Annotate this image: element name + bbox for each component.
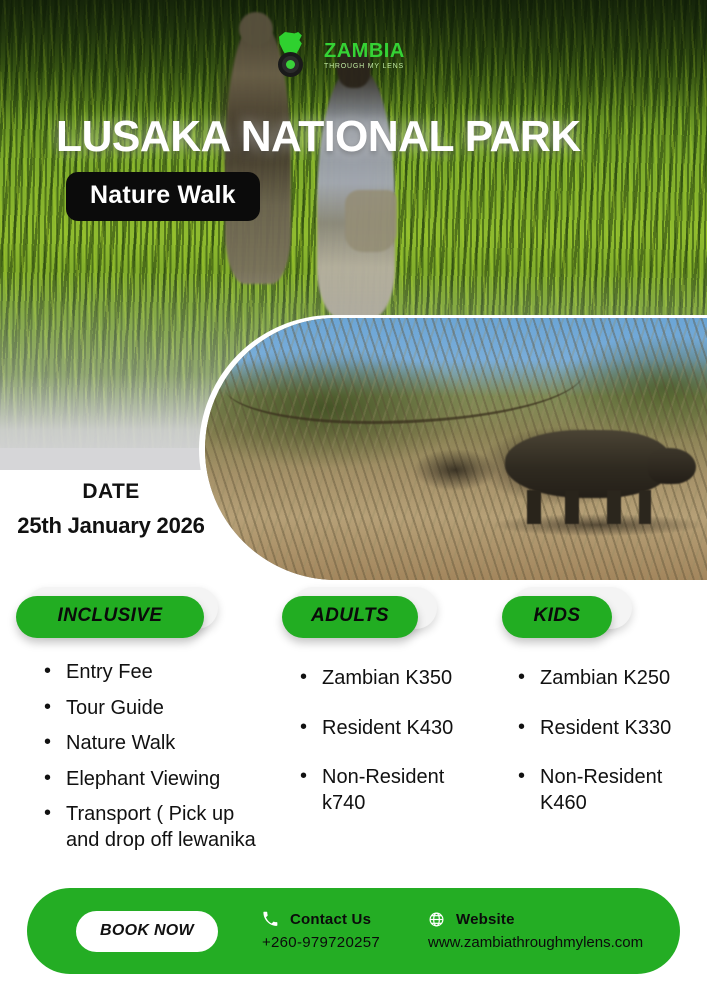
globe-icon: [428, 911, 445, 928]
rhino-photo: [205, 318, 707, 580]
footer-bar: BOOK NOW Contact Us +260-979720257: [27, 888, 680, 974]
website-title: Website: [456, 911, 515, 928]
contact-phone-number[interactable]: +260-979720257: [262, 934, 380, 951]
list-inclusive: Entry Fee Tour Guide Nature Walk Elephan…: [66, 660, 270, 854]
contact-heading: Contact Us: [262, 911, 380, 928]
rhino-legs: [521, 490, 651, 524]
website-heading: Website: [428, 911, 643, 928]
column-kids: KIDS Zambian K250 Resident K330 Non-Resi…: [482, 596, 707, 876]
badge-wrap-kids: KIDS: [502, 596, 612, 638]
subtitle-pill: Nature Walk: [66, 172, 260, 221]
page-title: LUSAKA NATIONAL PARK: [56, 112, 581, 162]
list-item: Resident K430: [322, 716, 482, 742]
website-block: Website www.zambiathroughmylens.com: [428, 911, 643, 951]
list-item: Transport ( Pick up and drop off lewanik…: [66, 802, 270, 853]
date-label: DATE: [0, 480, 222, 504]
list-item: Entry Fee: [66, 660, 270, 686]
column-inclusive: INCLUSIVE Entry Fee Tour Guide Nature Wa…: [0, 596, 270, 876]
book-now-button[interactable]: BOOK NOW: [76, 911, 218, 952]
camera-lens-icon: [278, 52, 303, 77]
column-adults: ADULTS Zambian K350 Resident K430 Non-Re…: [270, 596, 482, 876]
date-value: 25th January 2026: [0, 513, 222, 539]
list-item: Resident K330: [540, 716, 707, 742]
logo-mark: [272, 32, 320, 78]
list-item: Elephant Viewing: [66, 767, 270, 793]
info-columns: INCLUSIVE Entry Fee Tour Guide Nature Wa…: [0, 596, 707, 876]
list-item: Tour Guide: [66, 696, 270, 722]
website-url[interactable]: www.zambiathroughmylens.com: [428, 934, 643, 951]
logo-tagline: THROUGH MY LENS: [324, 63, 405, 70]
brand-logo: ZAMBIA THROUGH MY LENS: [272, 32, 405, 78]
contact-block: Contact Us +260-979720257: [262, 911, 380, 951]
logo-text: ZAMBIA THROUGH MY LENS: [324, 41, 405, 70]
logo-brand-name: ZAMBIA: [324, 41, 405, 61]
list-item: Zambian K250: [540, 666, 707, 692]
rhino-body: [505, 430, 670, 498]
list-item: Non-Resident K460: [540, 765, 707, 816]
date-block: DATE 25th January 2026: [0, 480, 222, 539]
poster: ZAMBIA THROUGH MY LENS LUSAKA NATIONAL P…: [0, 0, 707, 1000]
list-kids: Zambian K250 Resident K330 Non-Resident …: [540, 666, 707, 816]
list-item: Zambian K350: [322, 666, 482, 692]
badge-kids: KIDS: [502, 596, 612, 638]
list-item: Non-Resident k740: [322, 765, 482, 816]
badge-inclusive: INCLUSIVE: [16, 596, 204, 638]
badge-wrap-inclusive: INCLUSIVE: [16, 596, 204, 638]
list-adults: Zambian K350 Resident K430 Non-Resident …: [322, 666, 482, 816]
phone-icon: [262, 911, 279, 928]
contact-title: Contact Us: [290, 911, 371, 928]
badge-adults: ADULTS: [282, 596, 418, 638]
badge-wrap-adults: ADULTS: [282, 596, 418, 638]
list-item: Nature Walk: [66, 731, 270, 757]
